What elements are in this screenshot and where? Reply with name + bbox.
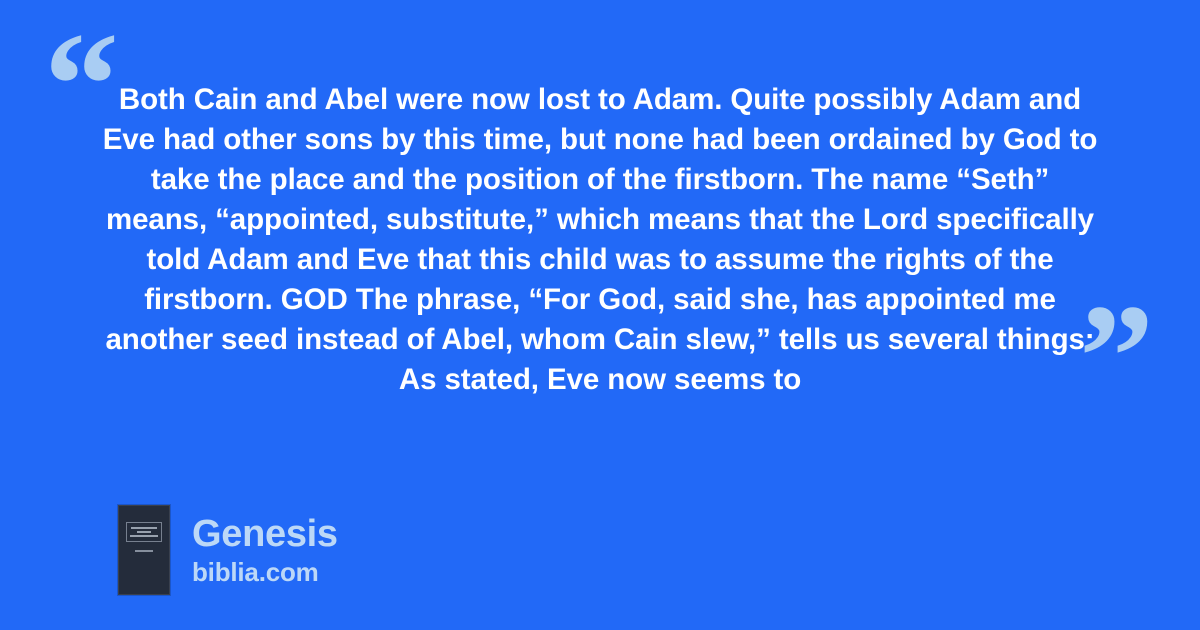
book-cover-label — [126, 522, 162, 542]
footer-text: Genesis biblia.com — [192, 513, 338, 587]
book-cover-label-line — [131, 527, 157, 529]
quote-text: Both Cain and Abel were now lost to Adam… — [100, 80, 1100, 400]
book-cover-label-line — [137, 531, 151, 533]
book-title: Genesis — [192, 513, 338, 555]
quote-card: “ Both Cain and Abel were now lost to Ad… — [0, 0, 1200, 630]
book-cover-label-line — [130, 535, 158, 537]
site-name: biblia.com — [192, 557, 338, 587]
footer: Genesis biblia.com — [118, 505, 338, 595]
book-cover-subtitle-line — [135, 550, 153, 552]
close-quote-icon: ” — [1079, 282, 1152, 432]
book-cover-icon — [118, 505, 170, 595]
